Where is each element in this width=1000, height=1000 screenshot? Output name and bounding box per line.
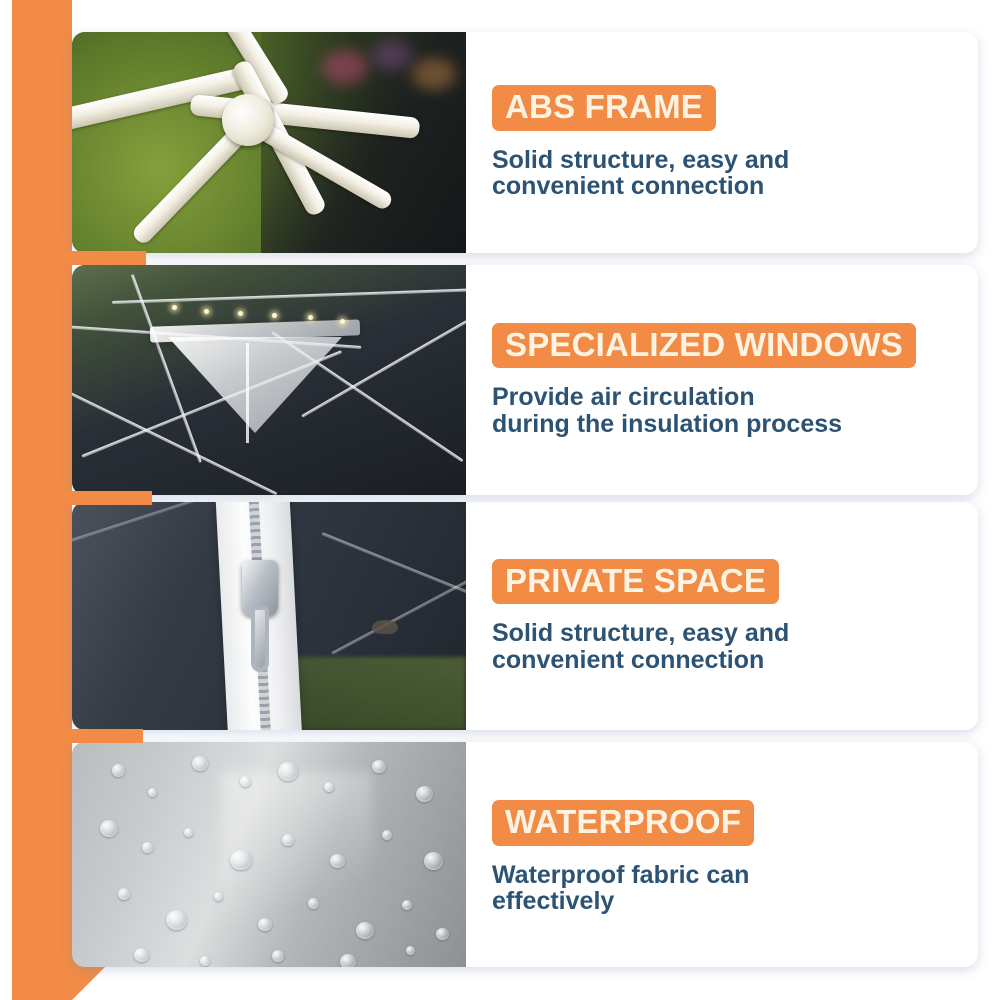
feature-card-specialized-windows: SPECIALIZED WINDOWS Provide air circulat… [72, 265, 978, 495]
feature-desc-line-2: convenient connection [492, 647, 922, 674]
feature-photo-private-space [72, 502, 466, 730]
feature-description-specialized-windows: Provide air circulation during the insul… [492, 384, 952, 437]
connector-tab-3 [30, 729, 143, 743]
feature-badge-abs-frame: ABS FRAME [492, 85, 716, 131]
feature-text-specialized-windows: SPECIALIZED WINDOWS Provide air circulat… [466, 265, 978, 495]
feature-desc-line-2: effectively [492, 888, 922, 915]
connector-tab-1 [30, 251, 146, 265]
feature-card-waterproof: WATERPROOF Waterproof fabric can effecti… [72, 742, 978, 967]
feature-photo-specialized-windows [72, 265, 466, 495]
feature-description-abs-frame: Solid structure, easy and convenient con… [492, 147, 922, 200]
feature-card-abs-frame: ABS FRAME Solid structure, easy and conv… [72, 32, 978, 253]
feature-photo-abs-frame [72, 32, 466, 253]
feature-desc-line-1: Solid structure, easy and [492, 147, 922, 174]
feature-text-waterproof: WATERPROOF Waterproof fabric can effecti… [466, 742, 978, 967]
feature-desc-line-1: Solid structure, easy and [492, 620, 922, 647]
feature-desc-line-1: Provide air circulation [492, 384, 952, 411]
feature-badge-waterproof: WATERPROOF [492, 800, 754, 846]
feature-text-private-space: PRIVATE SPACE Solid structure, easy and … [466, 502, 978, 730]
infographic-page: ABS FRAME Solid structure, easy and conv… [0, 0, 1000, 1000]
feature-badge-specialized-windows: SPECIALIZED WINDOWS [492, 323, 916, 369]
feature-text-abs-frame: ABS FRAME Solid structure, easy and conv… [466, 32, 978, 253]
feature-description-private-space: Solid structure, easy and convenient con… [492, 620, 922, 673]
feature-desc-line-2: during the insulation process [492, 411, 952, 438]
feature-desc-line-1: Waterproof fabric can [492, 862, 922, 889]
feature-badge-private-space: PRIVATE SPACE [492, 559, 779, 605]
feature-photo-waterproof [72, 742, 466, 967]
feature-card-private-space: PRIVATE SPACE Solid structure, easy and … [72, 502, 978, 730]
feature-description-waterproof: Waterproof fabric can effectively [492, 862, 922, 915]
feature-desc-line-2: convenient connection [492, 173, 922, 200]
connector-tab-2 [30, 491, 152, 505]
